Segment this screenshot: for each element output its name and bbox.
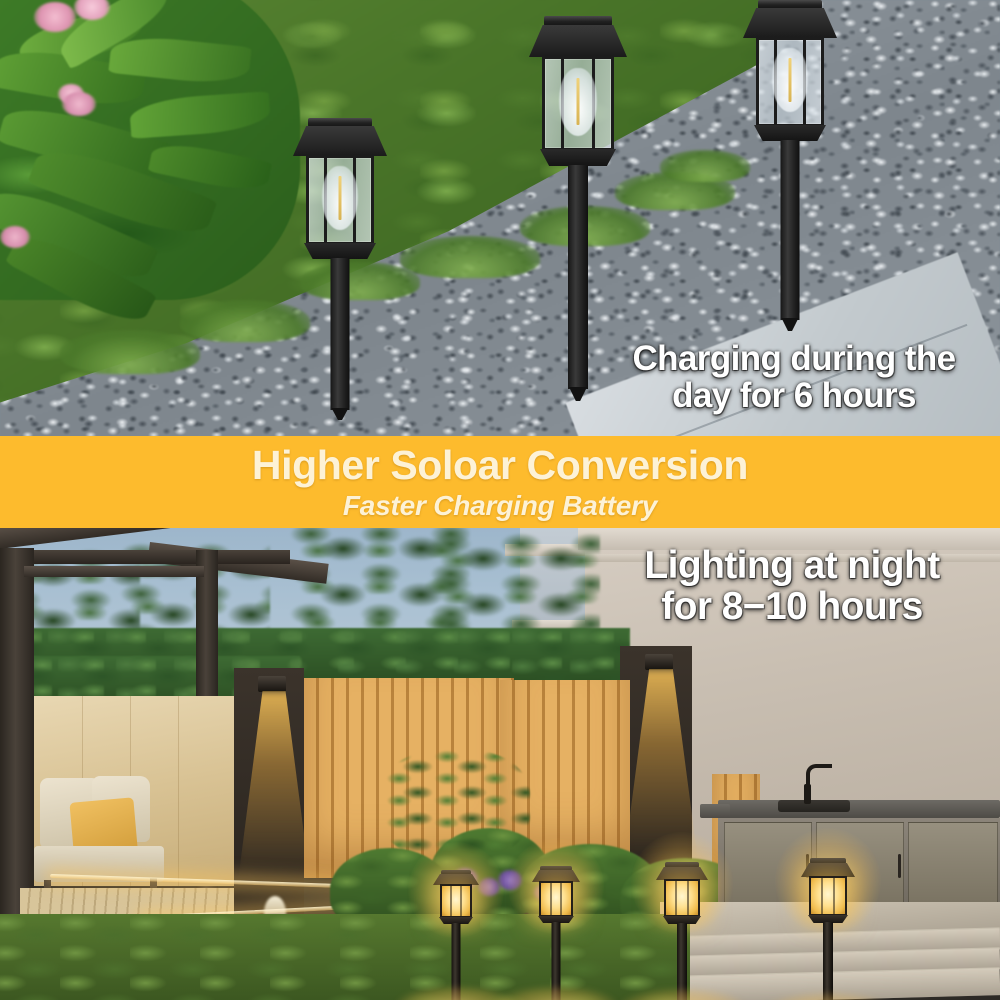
glow-lantern-4 bbox=[776, 846, 880, 1000]
marketing-banner-strip: Higher Soloar Conversion Faster Charging… bbox=[0, 436, 1000, 528]
banner-headline: Higher Soloar Conversion bbox=[252, 445, 748, 486]
pink-flower bbox=[0, 226, 30, 248]
lantern-ground-stake bbox=[569, 387, 587, 401]
lantern-filament bbox=[789, 58, 792, 102]
lantern-ground-pool bbox=[617, 988, 747, 1000]
lantern-ground-stake bbox=[782, 318, 799, 331]
lantern-base bbox=[540, 149, 616, 166]
grass-tuft bbox=[660, 150, 750, 182]
faucet-base bbox=[804, 784, 811, 804]
lantern-base bbox=[304, 243, 376, 259]
lantern-pole bbox=[568, 165, 588, 389]
lantern-mullion bbox=[821, 878, 823, 914]
lantern-solar-cap bbox=[544, 16, 612, 26]
lantern-glass-housing bbox=[539, 881, 573, 917]
glow-lantern-1 bbox=[408, 858, 504, 1000]
grass-tuft bbox=[400, 236, 540, 278]
nighttime-caption: Lighting at night for 8−10 hours bbox=[596, 545, 988, 628]
wall-light-fixture bbox=[258, 676, 286, 692]
lantern-roof bbox=[529, 25, 627, 57]
lantern-roof bbox=[801, 863, 855, 877]
glow-lantern-2 bbox=[508, 854, 604, 1000]
lantern-mullion bbox=[687, 881, 689, 915]
lantern-ground-pool bbox=[760, 992, 896, 1000]
lantern-glass-housing bbox=[809, 876, 847, 916]
banner-subheadline: Faster Charging Battery bbox=[343, 492, 657, 520]
sink-basin bbox=[778, 800, 850, 812]
daytime-caption: Charging during the day for 6 hours bbox=[604, 340, 984, 414]
glow-lantern-3 bbox=[632, 850, 732, 1000]
lantern-mullion bbox=[560, 883, 562, 915]
lantern-mullion bbox=[450, 886, 452, 916]
lantern-front-left bbox=[292, 118, 388, 418]
lantern-mullion bbox=[675, 881, 677, 915]
lantern-back-right bbox=[742, 0, 838, 332]
lantern-mullion bbox=[833, 878, 835, 914]
lantern-solar-cap bbox=[758, 0, 822, 9]
lantern-filament bbox=[577, 78, 580, 125]
outdoor-kitchen-counter-side bbox=[700, 804, 730, 818]
lantern-filament bbox=[339, 176, 342, 220]
lantern-roof bbox=[743, 8, 837, 38]
product-banner: Charging during the day for 6 hours High… bbox=[0, 0, 1000, 1000]
lantern-mullion bbox=[460, 886, 462, 916]
lantern-pole bbox=[823, 922, 833, 1000]
lantern-pole bbox=[331, 258, 350, 410]
pink-flower bbox=[62, 92, 96, 116]
lantern-roof bbox=[293, 126, 387, 156]
cabinet-door bbox=[908, 822, 998, 914]
cabinet-handle bbox=[898, 854, 901, 878]
lantern-solar-cap bbox=[308, 118, 372, 127]
lantern-ground-pool bbox=[494, 986, 618, 1000]
climbing-vine bbox=[380, 750, 530, 860]
lantern-pole bbox=[781, 140, 800, 320]
grass-tuft bbox=[180, 300, 310, 342]
stone-wall-seam bbox=[178, 696, 179, 886]
lantern-mullion bbox=[550, 883, 552, 915]
lantern-base bbox=[754, 125, 826, 141]
pergola-cross-beam bbox=[24, 566, 204, 577]
outdoor-kitchen-countertop bbox=[718, 800, 1000, 818]
wall-light-fixture bbox=[645, 654, 673, 670]
pergola-roof-beam bbox=[0, 550, 290, 564]
lantern-glass-housing bbox=[664, 879, 700, 917]
lantern-glass-housing bbox=[440, 884, 472, 918]
grass-tuft bbox=[60, 330, 200, 374]
pink-flower bbox=[34, 2, 76, 32]
